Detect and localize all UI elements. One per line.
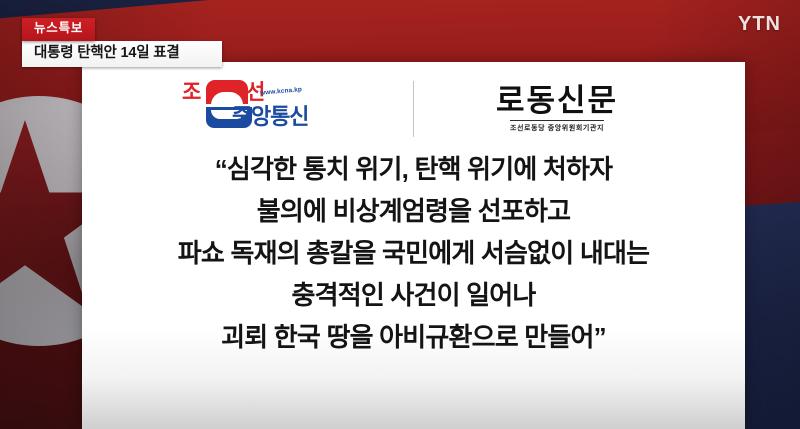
rodong-sinmun-logo: 로동신문 조선로동당 중앙위원회기관지 (496, 85, 618, 133)
masthead-row: 조 선 www.kcna.kp 중앙통신 로동신문 조선로동당 중앙위원회기관지 (82, 62, 745, 140)
ytn-channel-logo: YTN (729, 11, 790, 39)
breaking-news-headline: 대통령 탄핵안 14일 표결 (22, 41, 222, 67)
kcna-website-url: www.kcna.kp (260, 86, 302, 97)
breaking-news-tag: 뉴스특보 (22, 18, 95, 41)
quote-card: 조 선 www.kcna.kp 중앙통신 로동신문 조선로동당 중앙위원회기관지… (82, 62, 745, 429)
quote-line: 파쇼 독재의 총칼을 국민에게 서슴없이 내대는 (98, 232, 729, 274)
kcna-logo-text-jungangtongsin: 중앙통신 (232, 106, 308, 128)
rodong-sinmun-title: 로동신문 (496, 85, 618, 118)
breaking-news-banner: 뉴스특보 대통령 탄핵안 14일 표결 (22, 18, 222, 67)
broadcast-screenshot: YTN 뉴스특보 대통령 탄핵안 14일 표결 조 선 www.kcna.kp … (0, 0, 800, 429)
rodong-sinmun-subtitle: 조선로동당 중앙위원회기관지 (510, 120, 604, 133)
quote-line: “심각한 통치 위기, 탄핵 위기에 처하자 (98, 148, 729, 190)
kcna-logo: 조 선 www.kcna.kp 중앙통신 (180, 80, 360, 138)
quote-line: 괴뢰 한국 땅을 아비규환으로 만들어” (98, 316, 729, 358)
quote-block: “심각한 통치 위기, 탄핵 위기에 처하자 불의에 비상계엄령을 선포하고 파… (82, 148, 745, 359)
quote-line: 충격적인 사건이 일어나 (98, 274, 729, 316)
masthead-kcna: 조 선 www.kcna.kp 중앙통신 (127, 76, 413, 142)
quote-line: 불의에 비상계엄령을 선포하고 (98, 190, 729, 232)
masthead-rodong-sinmun: 로동신문 조선로동당 중앙위원회기관지 (414, 76, 700, 142)
kcna-sun-arc-icon (206, 80, 248, 104)
kcna-logo-char-jo: 조 (182, 82, 200, 103)
